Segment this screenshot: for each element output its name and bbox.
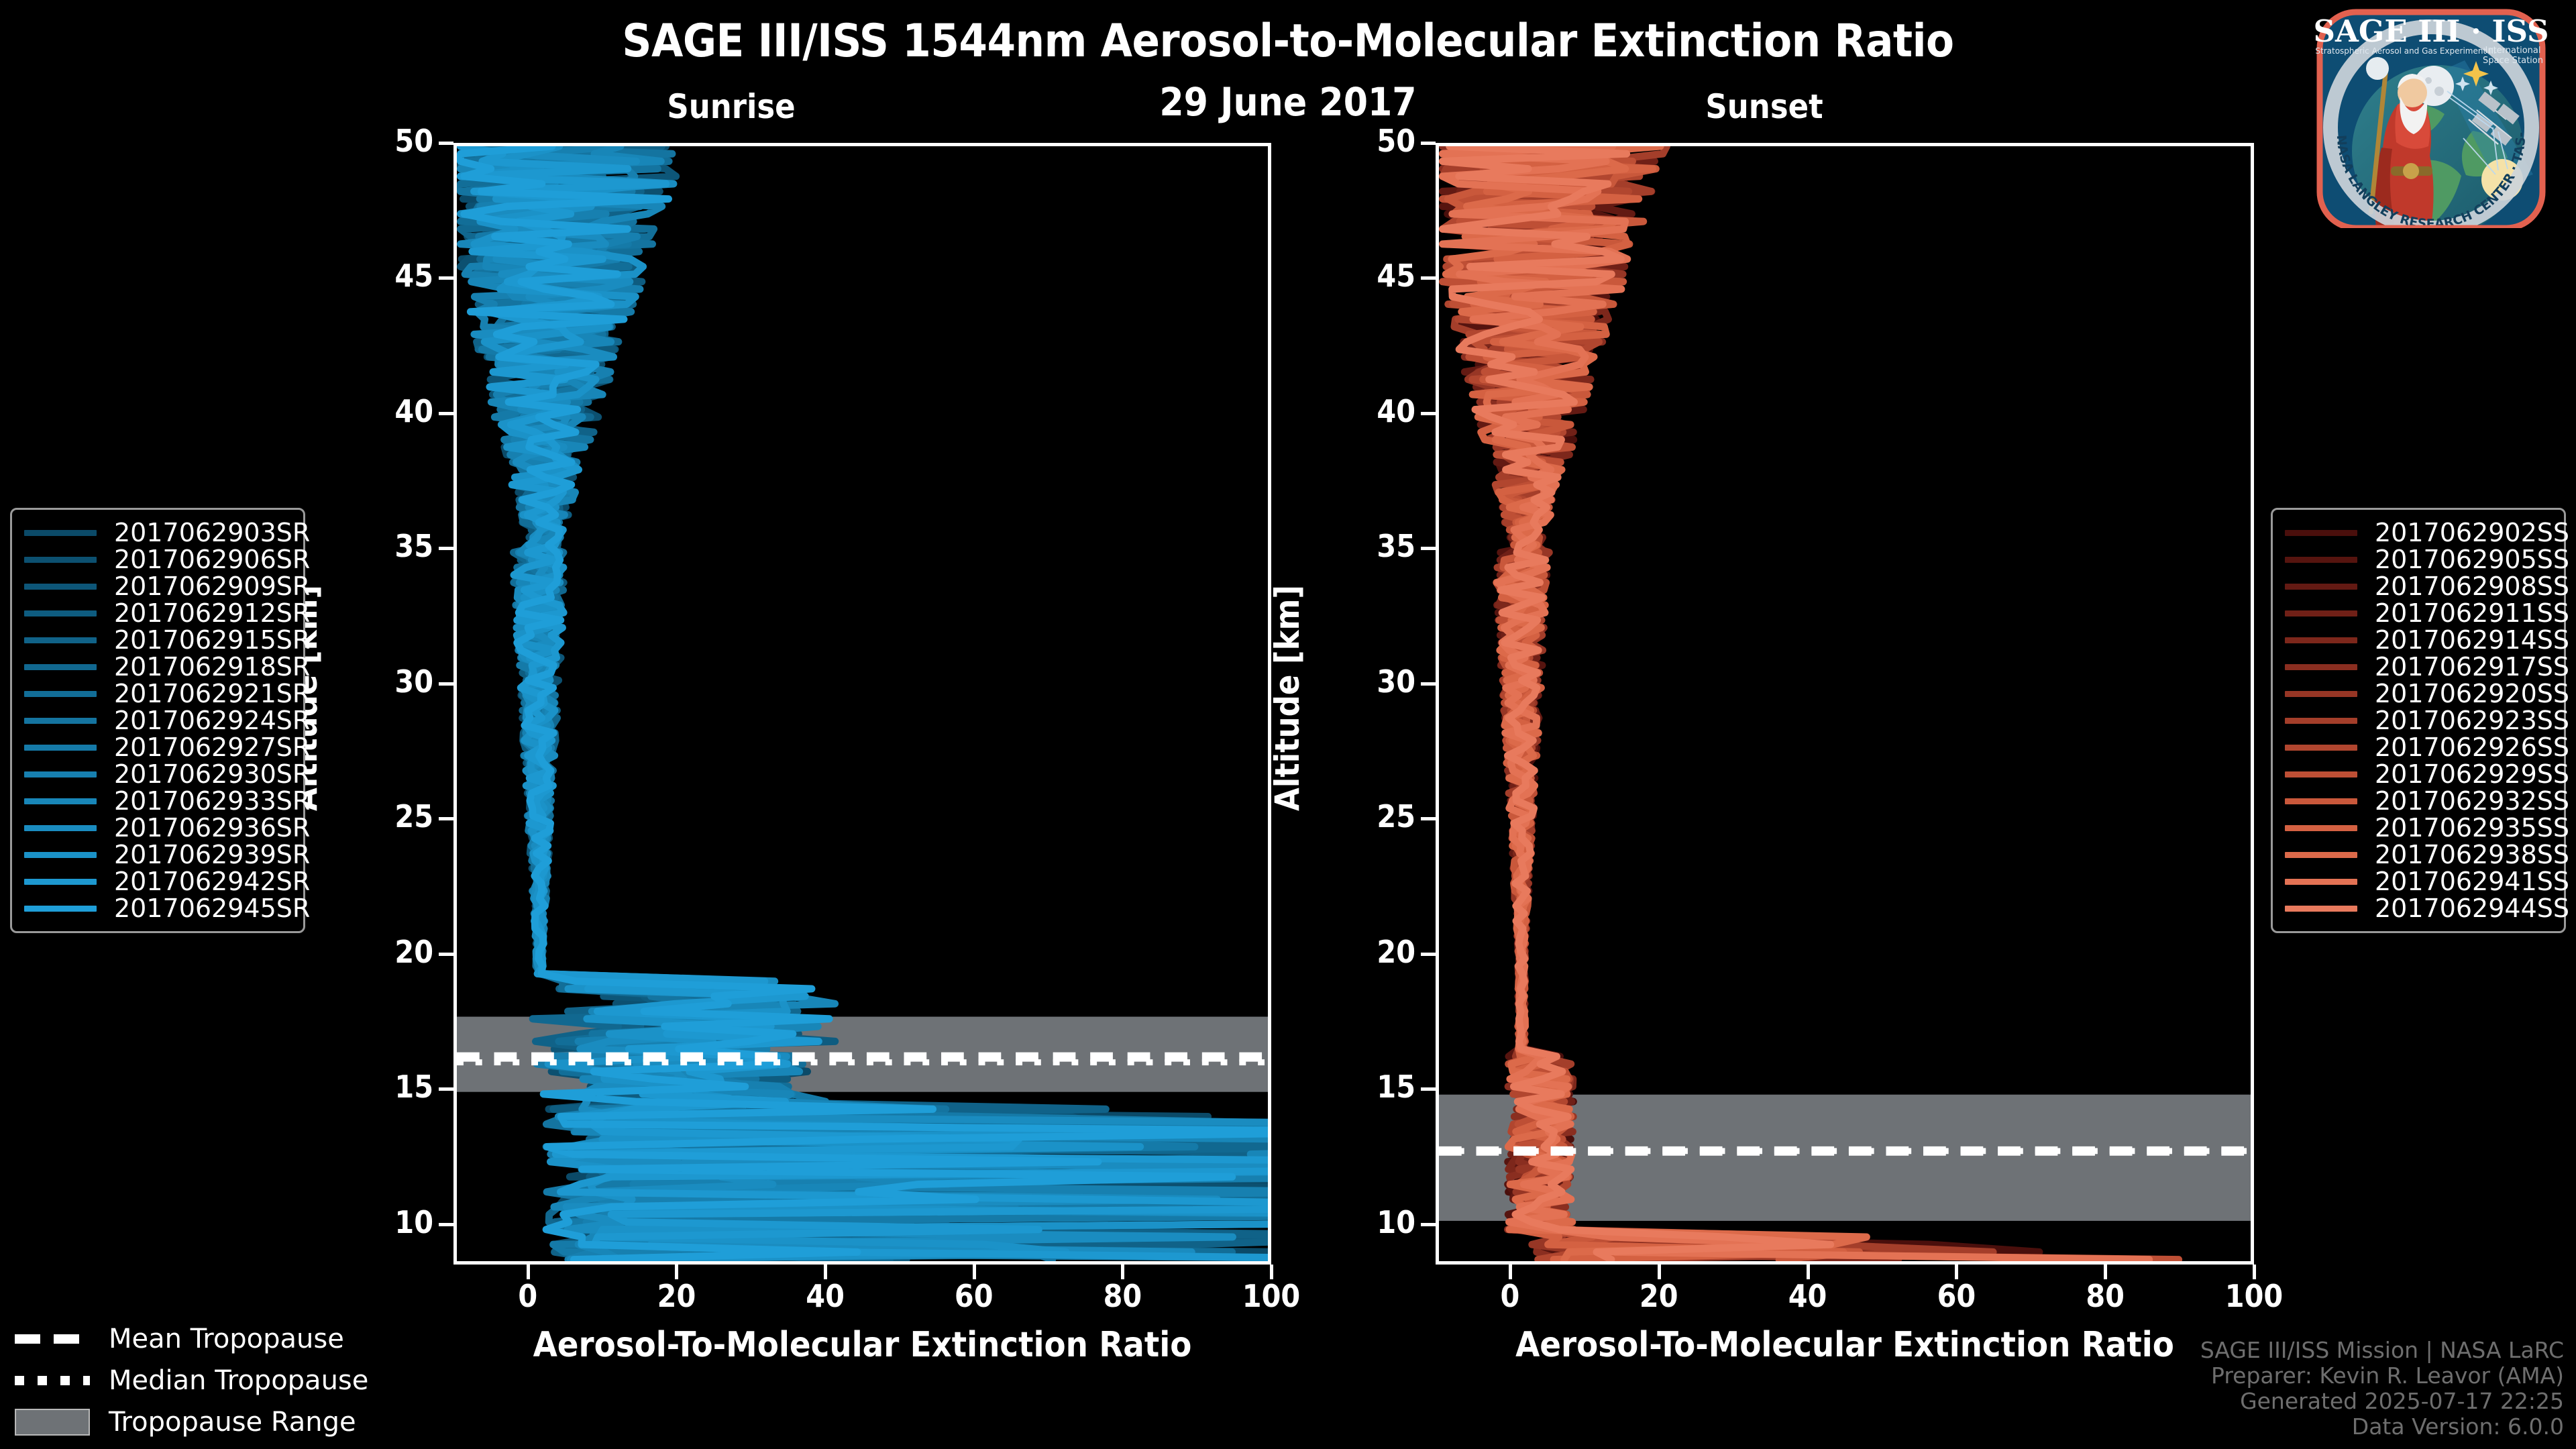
legend-color-swatch-2017062923SS [2285, 718, 2357, 724]
logo-title: SAGE III · ISS [2313, 13, 2548, 49]
legend-item-2017062915SR[interactable]: 2017062915SR [24, 627, 291, 653]
y-tick-mark-sunset-10 [1421, 1223, 1436, 1226]
y-tick-mark-sunrise-40 [439, 412, 453, 415]
panel-heading-sunrise: Sunrise [597, 87, 865, 126]
x-tick-label-sunrise-60: 60 [920, 1278, 1028, 1314]
plot-frame-sunrise [453, 143, 1271, 1265]
legend-item-2017062926SS[interactable]: 2017062926SS [2285, 734, 2552, 761]
panel-heading-sunset: Sunset [1630, 87, 1898, 126]
y-tick-label-sunset-35: 35 [1322, 528, 1415, 564]
y-tick-mark-sunset-25 [1421, 817, 1436, 820]
legend-label-2017062933SR: 2017062933SR [114, 786, 310, 816]
legend-item-2017062912SR[interactable]: 2017062912SR [24, 600, 291, 627]
legend-item-2017062906SR[interactable]: 2017062906SR [24, 546, 291, 573]
legend-item-2017062918SR[interactable]: 2017062918SR [24, 653, 291, 680]
legend-label-2017062923SS: 2017062923SS [2375, 706, 2569, 735]
y-tick-label-sunset-15: 15 [1322, 1069, 1415, 1105]
y-tick-mark-sunset-35 [1421, 547, 1436, 550]
x-tick-label-sunrise-80: 80 [1069, 1278, 1176, 1314]
legend-item-2017062902SS[interactable]: 2017062902SS [2285, 519, 2552, 546]
legend-color-swatch-2017062930SR [24, 771, 97, 777]
y-tick-label-sunset-45: 45 [1322, 258, 1415, 294]
legend-label-2017062927SR: 2017062927SR [114, 733, 310, 762]
legend-item-2017062905SS[interactable]: 2017062905SS [2285, 546, 2552, 573]
legend-label-2017062932SS: 2017062932SS [2375, 786, 2569, 816]
page-title: SAGE III/ISS 1544nm Aerosol-to-Molecular… [0, 15, 2576, 68]
legend-color-swatch-2017062932SS [2285, 798, 2357, 804]
legend-label-2017062918SR: 2017062918SR [114, 652, 310, 682]
x-tick-label-sunrise-40: 40 [771, 1278, 879, 1314]
legend-item-2017062941SS[interactable]: 2017062941SS [2285, 868, 2552, 895]
legend-label-2017062935SS: 2017062935SS [2375, 813, 2569, 843]
y-tick-label-sunrise-30: 30 [339, 663, 433, 700]
x-tick-mark-sunset-100 [2253, 1265, 2256, 1279]
sage-iii-iss-mission-patch-logo: BALL · NASA LANGLEY RESEARCH CENTER · TA… [2297, 7, 2565, 228]
legend-label-median-tropopause: Median Tropopause [109, 1365, 368, 1396]
legend-item-2017062908SS[interactable]: 2017062908SS [2285, 573, 2552, 600]
legend-item-2017062911SS[interactable]: 2017062911SS [2285, 600, 2552, 627]
y-tick-mark-sunrise-10 [439, 1223, 453, 1226]
legend-label-2017062920SS: 2017062920SS [2375, 679, 2569, 708]
legend-color-swatch-2017062942SR [24, 879, 97, 885]
legend-item-mean-tropopause: Mean Tropopause [15, 1318, 364, 1360]
y-axis-label-sunset: Altitude [km] [1268, 585, 1307, 811]
y-tick-mark-sunrise-20 [439, 953, 453, 956]
y-tick-mark-sunset-50 [1421, 142, 1436, 145]
legend-color-swatch-2017062935SS [2285, 825, 2357, 831]
legend-label-2017062936SR: 2017062936SR [114, 813, 310, 843]
legend-item-2017062933SR[interactable]: 2017062933SR [24, 788, 291, 814]
legend-item-median-tropopause: Median Tropopause [15, 1360, 364, 1401]
y-tick-mark-sunset-45 [1421, 276, 1436, 280]
legend-label-mean-tropopause: Mean Tropopause [109, 1324, 344, 1354]
x-tick-label-sunrise-100: 100 [1218, 1278, 1325, 1314]
legend-color-swatch-2017062917SS [2285, 664, 2357, 670]
x-tick-mark-sunset-80 [2104, 1265, 2107, 1279]
legend-label-2017062938SS: 2017062938SS [2375, 840, 2569, 869]
legend-color-swatch-2017062905SS [2285, 557, 2357, 563]
y-tick-mark-sunrise-35 [439, 547, 453, 550]
page-subtitle: 29 June 2017 [0, 79, 2576, 125]
y-tick-label-sunrise-25: 25 [339, 798, 433, 835]
y-tick-label-sunset-30: 30 [1322, 663, 1415, 700]
legend-item-2017062909SR[interactable]: 2017062909SR [24, 573, 291, 600]
legend-color-swatch-2017062924SR [24, 718, 97, 724]
legend-label-2017062905SS: 2017062905SS [2375, 545, 2569, 574]
x-axis-label-sunrise: Aerosol-To-Molecular Extinction Ratio [453, 1325, 1271, 1365]
y-tick-mark-sunset-20 [1421, 953, 1436, 956]
x-tick-label-sunrise-0: 0 [474, 1278, 582, 1314]
legend-label-2017062941SS: 2017062941SS [2375, 867, 2569, 896]
credits-line-version: Data Version: 6.0.0 [2200, 1414, 2564, 1440]
legend-color-swatch-2017062914SS [2285, 637, 2357, 643]
x-tick-mark-sunrise-80 [1121, 1265, 1124, 1279]
y-tick-mark-sunset-40 [1421, 412, 1436, 415]
legend-color-swatch-2017062902SS [2285, 530, 2357, 536]
legend-color-swatch-2017062906SR [24, 557, 97, 563]
plot-panel-sunset [1436, 143, 2254, 1265]
x-tick-label-sunset-40: 40 [1754, 1278, 1862, 1314]
y-tick-label-sunset-40: 40 [1322, 393, 1415, 429]
legend-item-2017062945SR[interactable]: 2017062945SR [24, 895, 291, 922]
x-tick-mark-sunrise-0 [527, 1265, 530, 1279]
legend-color-swatch-2017062918SR [24, 664, 97, 670]
y-tick-mark-sunrise-15 [439, 1087, 453, 1091]
y-tick-mark-sunrise-30 [439, 682, 453, 686]
y-tick-label-sunrise-20: 20 [339, 934, 433, 970]
x-tick-label-sunrise-20: 20 [623, 1278, 730, 1314]
x-tick-label-sunset-80: 80 [2051, 1278, 2159, 1314]
legend-color-swatch-2017062909SR [24, 584, 97, 590]
legend-item-2017062917SS[interactable]: 2017062917SS [2285, 653, 2552, 680]
y-tick-label-sunset-20: 20 [1322, 934, 1415, 970]
y-tick-mark-sunrise-45 [439, 276, 453, 280]
legend-label-2017062912SR: 2017062912SR [114, 598, 310, 628]
credits-block: SAGE III/ISS Mission | NASA LaRC Prepare… [2200, 1338, 2564, 1440]
legend-sunset[interactable]: 2017062902SS2017062905SS2017062908SS2017… [2271, 508, 2566, 933]
legend-color-swatch-2017062939SR [24, 852, 97, 858]
x-tick-mark-sunset-0 [1509, 1265, 1512, 1279]
y-tick-label-sunrise-45: 45 [339, 258, 433, 294]
legend-color-swatch-2017062941SS [2285, 879, 2357, 885]
y-tick-mark-sunrise-50 [439, 142, 453, 145]
legend-item-tropopause-range: Tropopause Range [15, 1401, 364, 1443]
y-tick-mark-sunrise-25 [439, 817, 453, 820]
legend-color-swatch-2017062903SR [24, 530, 97, 536]
legend-label-2017062908SS: 2017062908SS [2375, 572, 2569, 601]
legend-color-swatch-2017062944SS [2285, 906, 2357, 912]
legend-item-2017062920SS[interactable]: 2017062920SS [2285, 680, 2552, 707]
x-axis-label-sunset: Aerosol-To-Molecular Extinction Ratio [1436, 1325, 2254, 1365]
plot-frame-sunset [1436, 143, 2254, 1265]
legend-label-2017062911SS: 2017062911SS [2375, 598, 2569, 628]
legend-sunrise[interactable]: 2017062903SR2017062906SR2017062909SR2017… [10, 508, 305, 933]
legend-color-swatch-2017062938SS [2285, 852, 2357, 858]
legend-label-2017062921SR: 2017062921SR [114, 679, 310, 708]
y-tick-label-sunset-10: 10 [1322, 1204, 1415, 1240]
legend-tropopause: Mean Tropopause Median Tropopause Tropop… [15, 1318, 364, 1443]
band-swatch-icon [15, 1409, 90, 1436]
x-tick-mark-sunset-60 [1955, 1265, 1958, 1279]
plot-area-sunset [1439, 146, 2251, 1261]
x-tick-mark-sunrise-20 [675, 1265, 678, 1279]
legend-label-2017062945SR: 2017062945SR [114, 894, 310, 923]
legend-color-swatch-2017062911SS [2285, 610, 2357, 616]
y-tick-label-sunrise-50: 50 [339, 123, 433, 159]
legend-label-2017062915SR: 2017062915SR [114, 625, 310, 655]
legend-color-swatch-2017062929SS [2285, 771, 2357, 777]
legend-label-2017062902SS: 2017062902SS [2375, 518, 2569, 547]
logo-subtitle-right-1: International [2485, 46, 2541, 56]
y-tick-mark-sunset-15 [1421, 1087, 1436, 1091]
legend-color-swatch-2017062920SS [2285, 691, 2357, 697]
legend-item-2017062939SR[interactable]: 2017062939SR [24, 841, 291, 868]
y-tick-label-sunrise-15: 15 [339, 1069, 433, 1105]
legend-label-2017062939SR: 2017062939SR [114, 840, 310, 869]
y-tick-mark-sunset-30 [1421, 682, 1436, 686]
legend-label-2017062924SR: 2017062924SR [114, 706, 310, 735]
y-tick-label-sunrise-10: 10 [339, 1204, 433, 1240]
plot-area-sunrise [457, 146, 1268, 1261]
legend-item-2017062927SR[interactable]: 2017062927SR [24, 734, 291, 761]
y-tick-label-sunrise-40: 40 [339, 393, 433, 429]
legend-label-tropopause-range: Tropopause Range [109, 1407, 356, 1438]
legend-label-2017062926SS: 2017062926SS [2375, 733, 2569, 762]
legend-item-2017062921SR[interactable]: 2017062921SR [24, 680, 291, 707]
x-tick-mark-sunrise-40 [824, 1265, 827, 1279]
x-tick-mark-sunset-40 [1807, 1265, 1810, 1279]
legend-item-2017062932SS[interactable]: 2017062932SS [2285, 788, 2552, 814]
legend-color-swatch-2017062915SR [24, 637, 97, 643]
legend-item-2017062923SS[interactable]: 2017062923SS [2285, 707, 2552, 734]
legend-label-2017062944SS: 2017062944SS [2375, 894, 2569, 923]
legend-color-swatch-2017062921SR [24, 691, 97, 697]
legend-label-2017062914SS: 2017062914SS [2375, 625, 2569, 655]
y-tick-label-sunrise-35: 35 [339, 528, 433, 564]
legend-item-2017062924SR[interactable]: 2017062924SR [24, 707, 291, 734]
legend-item-2017062938SS[interactable]: 2017062938SS [2285, 841, 2552, 868]
x-tick-label-sunset-20: 20 [1605, 1278, 1713, 1314]
legend-item-2017062914SS[interactable]: 2017062914SS [2285, 627, 2552, 653]
legend-label-2017062906SR: 2017062906SR [114, 545, 310, 574]
legend-color-swatch-2017062933SR [24, 798, 97, 804]
x-tick-label-sunset-100: 100 [2200, 1278, 2308, 1314]
legend-color-swatch-2017062936SR [24, 825, 97, 831]
credits-line-mission: SAGE III/ISS Mission | NASA LaRC [2200, 1338, 2564, 1363]
logo-subtitle-right-2: Space Station [2483, 56, 2543, 66]
legend-item-2017062942SR[interactable]: 2017062942SR [24, 868, 291, 895]
y-tick-label-sunset-50: 50 [1322, 123, 1415, 159]
logo-subtitle-left: Stratospheric Aerosol and Gas Experiment… [2315, 46, 2495, 56]
legend-item-2017062930SR[interactable]: 2017062930SR [24, 761, 291, 788]
dotted-line-icon [15, 1376, 90, 1385]
x-tick-label-sunset-0: 0 [1456, 1278, 1564, 1314]
legend-label-2017062917SS: 2017062917SS [2375, 652, 2569, 682]
legend-label-2017062930SR: 2017062930SR [114, 759, 310, 789]
credits-line-generated: Generated 2025-07-17 22:25 [2200, 1389, 2564, 1414]
legend-color-swatch-2017062908SS [2285, 584, 2357, 590]
legend-color-swatch-2017062927SR [24, 745, 97, 751]
legend-label-2017062909SR: 2017062909SR [114, 572, 310, 601]
legend-color-swatch-2017062926SS [2285, 745, 2357, 751]
legend-color-swatch-2017062912SR [24, 610, 97, 616]
legend-item-2017062903SR[interactable]: 2017062903SR [24, 519, 291, 546]
y-tick-label-sunset-25: 25 [1322, 798, 1415, 835]
x-tick-mark-sunrise-100 [1270, 1265, 1273, 1279]
legend-item-2017062944SS[interactable]: 2017062944SS [2285, 895, 2552, 922]
legend-label-2017062942SR: 2017062942SR [114, 867, 310, 896]
legend-item-2017062935SS[interactable]: 2017062935SS [2285, 814, 2552, 841]
x-tick-label-sunset-60: 60 [1902, 1278, 2010, 1314]
legend-item-2017062929SS[interactable]: 2017062929SS [2285, 761, 2552, 788]
x-tick-mark-sunrise-60 [973, 1265, 976, 1279]
credits-line-preparer: Preparer: Kevin R. Leavor (AMA) [2200, 1363, 2564, 1389]
x-tick-mark-sunset-20 [1658, 1265, 1661, 1279]
dashed-line-icon [15, 1334, 90, 1344]
legend-label-2017062929SS: 2017062929SS [2375, 759, 2569, 789]
legend-color-swatch-2017062945SR [24, 906, 97, 912]
legend-label-2017062903SR: 2017062903SR [114, 518, 310, 547]
legend-item-2017062936SR[interactable]: 2017062936SR [24, 814, 291, 841]
plot-panel-sunrise [453, 143, 1271, 1265]
